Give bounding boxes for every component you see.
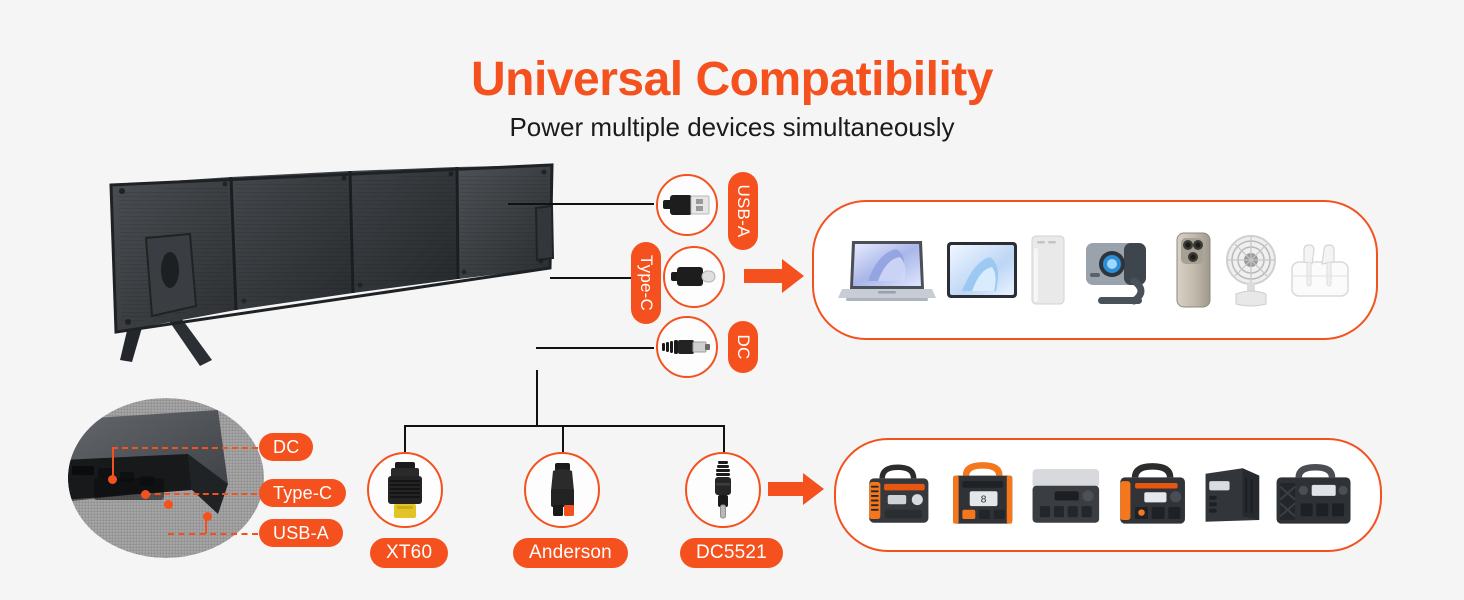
adapter-circle-xt60[interactable] (367, 452, 443, 528)
port-label-dc-text: DC (733, 335, 753, 360)
port-label-dc: DC (728, 321, 758, 373)
power-stations-panel: 8 (834, 438, 1382, 552)
tree-crossbar-line (404, 425, 724, 427)
solar-panel-product-image (104, 160, 604, 380)
anderson-connector-icon (543, 461, 581, 519)
callout-line-usb-a (168, 533, 258, 535)
callout-stem-dc (112, 447, 114, 477)
arrow-to-devices-panel (744, 258, 806, 299)
leader-line-dc (536, 347, 654, 349)
earbuds-device-icon (1288, 242, 1352, 298)
power-station-icon-6 (1271, 460, 1356, 530)
port-label-usb-a-text: USB-A (733, 185, 753, 238)
adapter-label-xt60: XT60 (370, 538, 448, 568)
adapter-label-dc5521-text: DC5521 (696, 542, 767, 564)
xt60-connector-icon (385, 460, 425, 520)
adapter-label-anderson-text: Anderson (529, 542, 612, 564)
adapter-circle-dc5521[interactable] (685, 452, 761, 528)
leader-line-usb-a (508, 203, 654, 205)
arrow-to-stations-panel (768, 472, 826, 511)
page-title: Universal Compatibility (0, 55, 1464, 105)
port-callout-type-c: Type-C (259, 479, 346, 507)
dc-barrel-plug-icon (662, 336, 712, 358)
type-c-plug-icon (671, 264, 717, 290)
adapter-label-xt60-text: XT60 (386, 542, 432, 564)
tree-branch-anderson (562, 425, 564, 453)
power-bank-device-icon (1028, 234, 1068, 306)
callout-stem-usb-a (205, 514, 207, 534)
port-callout-dc: DC (259, 433, 313, 461)
svg-text:8: 8 (981, 494, 987, 505)
callout-line-type-c (145, 493, 257, 495)
port-callout-type-c-text: Type-C (273, 483, 332, 504)
tree-trunk-line (536, 370, 538, 426)
tree-branch-dc5521 (723, 425, 725, 453)
callout-dot-usb-a (164, 500, 173, 509)
power-station-icon-3 (1027, 461, 1105, 529)
power-station-icon-1 (860, 459, 936, 531)
connector-circle-usb-a[interactable] (656, 174, 718, 236)
power-station-icon-5 (1200, 462, 1265, 528)
port-label-type-c-text: Type-C (636, 255, 656, 311)
small-devices-panel (812, 200, 1378, 340)
infographic-root: Universal Compatibility Power multiple d… (0, 0, 1464, 600)
connector-circle-type-c[interactable] (663, 246, 725, 308)
fan-device-icon (1224, 232, 1278, 308)
callout-line-dc (112, 447, 258, 449)
usb-a-plug-icon (663, 190, 711, 220)
port-callout-usb-a-text: USB-A (273, 523, 329, 544)
tablet-device-icon (946, 241, 1018, 299)
smartphone-device-icon (1174, 231, 1214, 309)
adapter-label-anderson: Anderson (513, 538, 628, 568)
adapter-circle-anderson[interactable] (524, 452, 600, 528)
laptop-device-icon (838, 235, 936, 305)
tree-branch-xt60 (404, 425, 406, 453)
page-subtitle: Power multiple devices simultaneously (0, 112, 1464, 143)
dc5521-connector-icon (711, 459, 735, 521)
port-callout-usb-a: USB-A (259, 519, 343, 547)
adapter-label-dc5521: DC5521 (680, 538, 783, 568)
power-station-icon-4 (1111, 458, 1194, 532)
connector-circle-dc[interactable] (656, 316, 718, 378)
projector-device-icon (1078, 233, 1164, 307)
port-label-usb-a: USB-A (728, 172, 758, 250)
port-label-type-c: Type-C (631, 242, 661, 324)
port-callout-dc-text: DC (273, 437, 299, 458)
power-station-icon-2: 8 (942, 458, 1022, 532)
